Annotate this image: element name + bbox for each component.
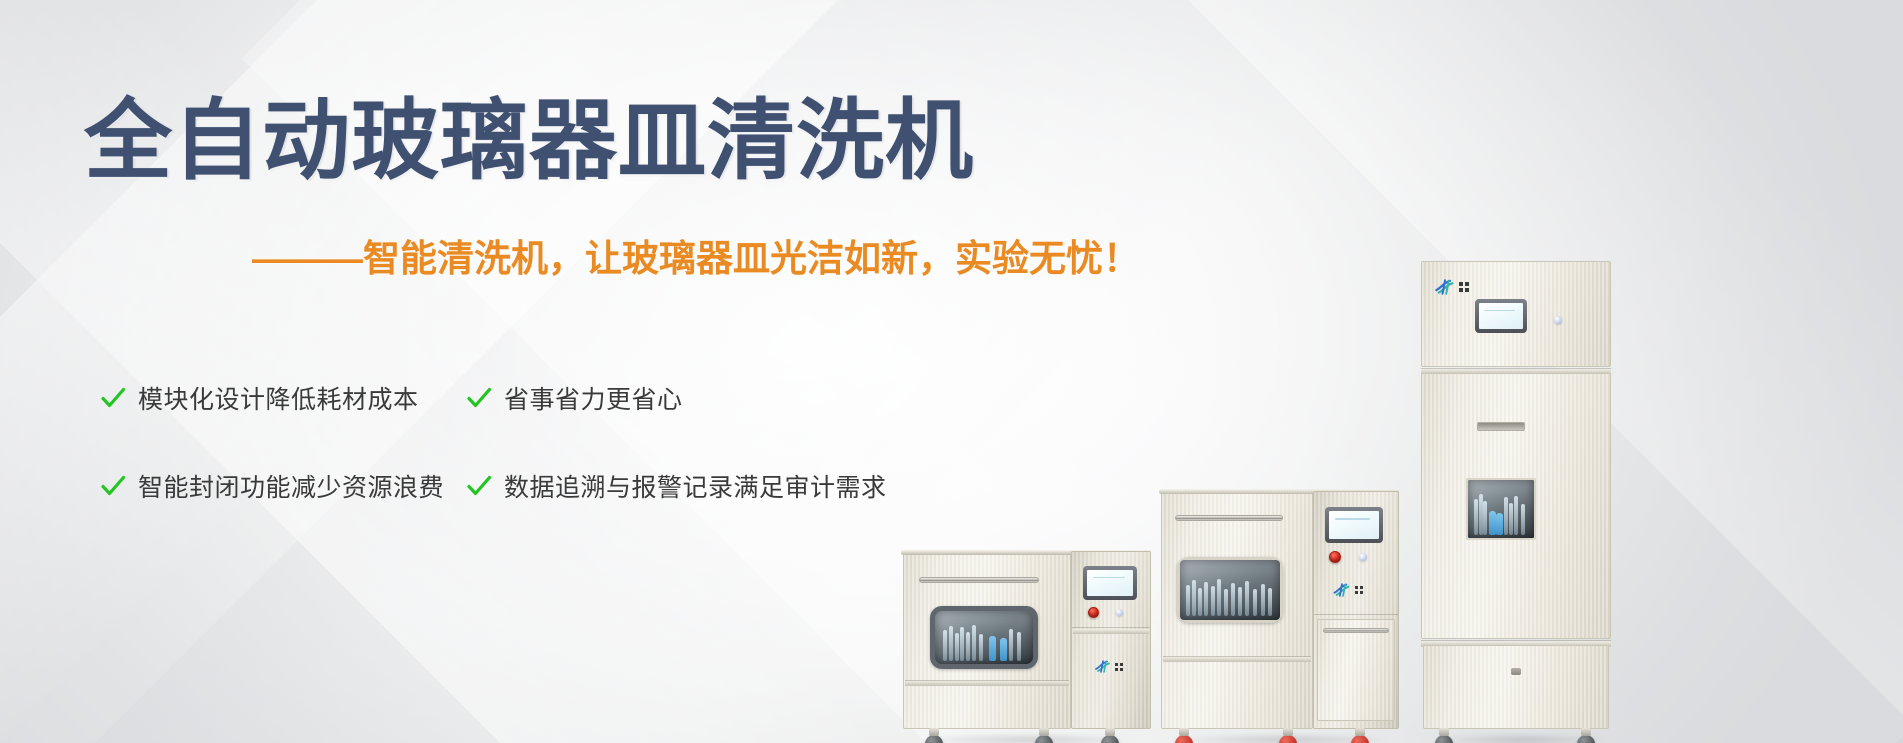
brand-logo [1095, 660, 1123, 673]
power-indicator-light[interactable] [1554, 316, 1562, 324]
power-indicator-light[interactable] [1359, 553, 1367, 561]
check-icon [466, 385, 492, 411]
feature-item-2: 省事省力更省心 [466, 380, 946, 416]
feature-label: 省事省力更省心 [504, 380, 683, 416]
check-icon [100, 385, 126, 411]
touchscreen-panel[interactable] [1475, 299, 1527, 333]
product-image-tall-column-washer [1421, 223, 1621, 743]
feature-row-2: 智能封闭功能减少资源浪费 数据追溯与报警记录满足审计需求 [100, 468, 980, 504]
logo-dots [1355, 586, 1363, 594]
feature-list: 模块化设计降低耗材成本 省事省力更省心 智能封闭功能减少资源浪费 [100, 380, 980, 556]
logo-dots [1115, 663, 1123, 671]
check-icon [466, 473, 492, 499]
power-indicator-light[interactable] [1116, 609, 1123, 616]
feature-item-3: 智能封闭功能减少资源浪费 [100, 468, 466, 504]
check-icon [100, 473, 126, 499]
brand-logo [1333, 583, 1363, 597]
viewing-window [935, 611, 1033, 664]
feature-item-1: 模块化设计降低耗材成本 [100, 380, 466, 416]
emergency-stop-button[interactable] [1329, 551, 1341, 563]
product-image-undercounter-washer [903, 543, 1153, 743]
feature-row-1: 模块化设计降低耗材成本 省事省力更省心 [100, 380, 980, 416]
touchscreen-panel[interactable] [1325, 507, 1383, 543]
brand-logo [1435, 279, 1469, 295]
viewing-window [1180, 560, 1280, 620]
page-title: 全自动玻璃器皿清洗机 [84, 97, 974, 185]
feature-label: 智能封闭功能减少资源浪费 [138, 468, 444, 504]
viewing-window [1468, 480, 1534, 538]
logo-dots [1459, 282, 1469, 292]
feature-item-4: 数据追溯与报警记录满足审计需求 [466, 468, 946, 504]
emergency-stop-button[interactable] [1088, 607, 1099, 618]
product-image-freestanding-washer [1161, 478, 1406, 743]
product-image-group [903, 0, 1903, 743]
feature-label: 模块化设计降低耗材成本 [138, 380, 419, 416]
hero-banner: 全自动玻璃器皿清洗机 ———智能清洗机，让玻璃器皿光洁如新，实验无忧！ 模块化设… [0, 0, 1903, 743]
touchscreen-panel[interactable] [1083, 566, 1137, 600]
feature-label: 数据追溯与报警记录满足审计需求 [504, 468, 887, 504]
